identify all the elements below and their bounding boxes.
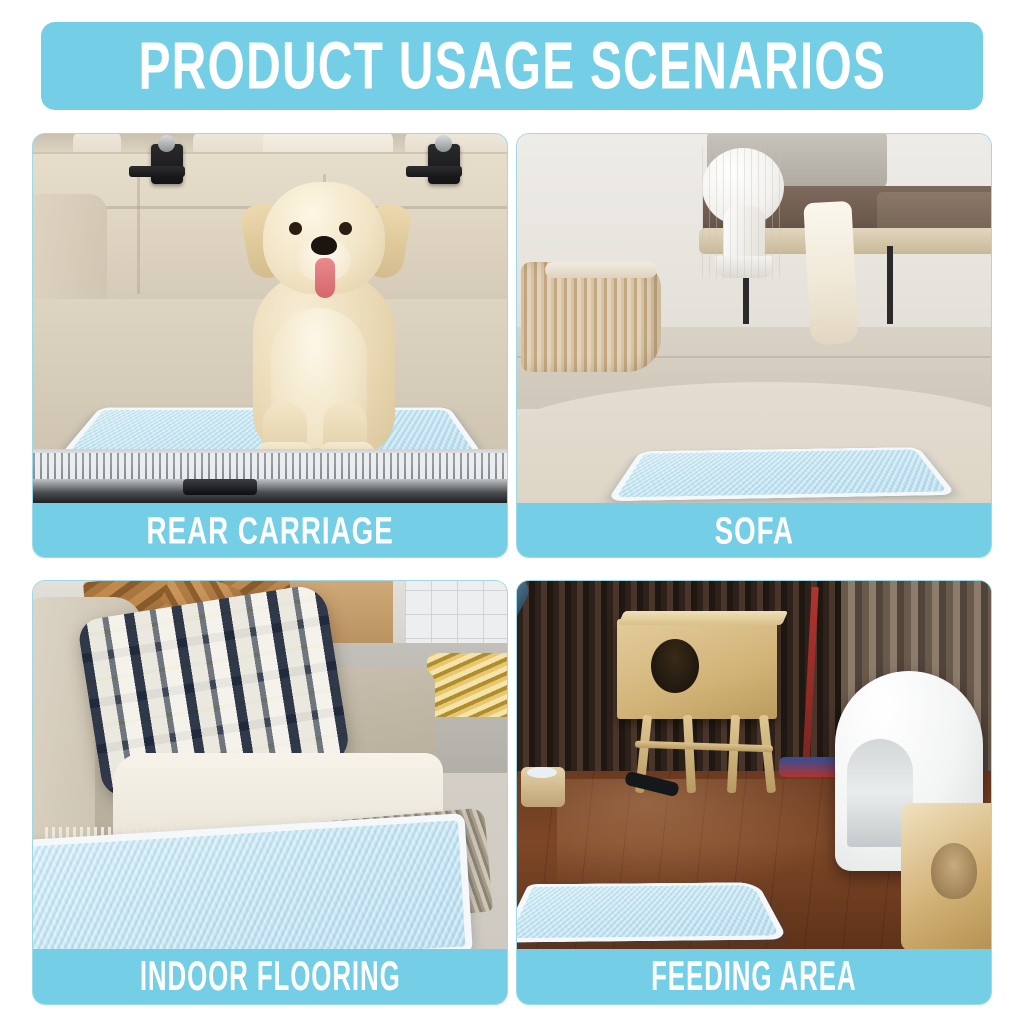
pet-crate-entrance [931,843,977,899]
cat-house-roof [618,611,788,625]
throw-blanket [803,201,858,345]
puppy-eye [289,222,302,235]
lamp-ribs [702,148,784,278]
scenario-photo-feeding-area [517,581,991,951]
headrest-clip-icon [428,144,460,184]
golden-retriever-puppy [219,176,429,466]
basket-handle [545,262,657,278]
product-usage-infographic: PRODUCT USAGE SCENARIOS [0,0,1024,1024]
mop-head [779,757,841,777]
scenario-photo-rear-carriage [33,134,507,505]
scenario-card-indoor-flooring[interactable]: INDOOR FLOORING [32,580,508,1005]
trunk-latch [183,479,257,495]
folding-fan-decor [427,653,507,717]
pet-mat-product [607,447,957,501]
page-title: PRODUCT USAGE SCENARIOS [138,32,886,99]
puppy-eye [339,222,352,235]
scenario-photo-sofa [517,134,991,505]
puppy-nose [311,236,337,255]
feeding-bowl [527,767,557,778]
sofa-leg [887,246,893,324]
cat-house-entrance [651,639,699,693]
clip-knob [435,135,452,152]
sill-ribs [33,453,507,479]
caption-label: REAR CARRIAGE [146,511,393,549]
trunk-sill [33,449,507,505]
caption-label: FEEDING AREA [651,956,856,997]
scenario-photo-indoor-flooring [33,581,507,951]
header-banner: PRODUCT USAGE SCENARIOS [41,22,983,110]
scenario-card-rear-carriage[interactable]: REAR CARRIAGE [32,133,508,558]
scenario-grid: REAR CARRIAGE [32,133,992,1005]
puppy-tongue [315,258,335,298]
headrest-clip-icon [151,144,183,184]
floor-reflection [557,779,857,899]
caption-bar-sofa: SOFA [517,503,991,557]
scenario-card-sofa[interactable]: SOFA [516,133,992,558]
caption-bar-feeding-area: FEEDING AREA [517,949,991,1004]
caption-label: INDOOR FLOORING [140,956,401,997]
caption-bar-indoor-flooring: INDOOR FLOORING [33,949,507,1004]
scenario-card-feeding-area[interactable]: FEEDING AREA [516,580,992,1005]
pet-mat-product [517,882,788,942]
caption-label: SOFA [714,511,794,549]
clip-knob [158,135,175,152]
caption-bar-rear-carriage: REAR CARRIAGE [33,503,507,557]
seat-divider [137,174,140,294]
wooden-slat-basket [521,262,661,372]
